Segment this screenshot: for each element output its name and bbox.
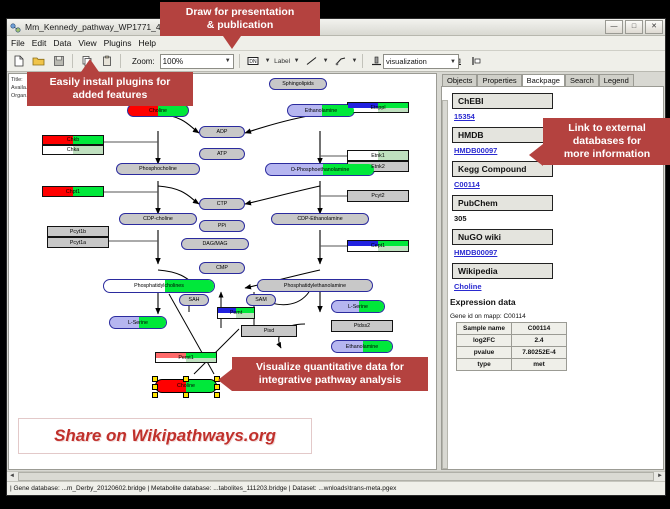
callout-line: Easily install plugins for — [35, 76, 185, 89]
title-bar: Mm_Kennedy_pathway_WP1771_45176.gpml — □… — [7, 19, 665, 36]
menu-item-data[interactable]: Data — [53, 38, 71, 48]
zoom-value: 100% — [163, 57, 183, 66]
backpage-link-kegg[interactable]: C00114 — [454, 180, 663, 189]
node-label: Chka — [67, 147, 79, 153]
node-label: Pcyt1b — [70, 229, 86, 235]
callout-visualize: Visualize quantitative data for integrat… — [232, 357, 428, 391]
backpage-header-hmdb: HMDB — [452, 127, 553, 143]
callout-line: databases for — [551, 135, 663, 148]
callout-arrow-left-icon — [218, 369, 232, 391]
backpage-header-chebi: ChEBI — [452, 93, 553, 109]
close-button[interactable]: ✕ — [645, 20, 663, 34]
node-label: Phosphatidylcholines — [134, 283, 184, 289]
new-file-icon[interactable] — [10, 53, 27, 70]
callout-arrow-down-icon — [223, 36, 241, 49]
toolbar-separator — [120, 54, 121, 68]
chevron-down-icon: ▼ — [450, 59, 456, 65]
menu-item-edit[interactable]: Edit — [32, 38, 47, 48]
menu-item-plugins[interactable]: Plugins — [104, 38, 132, 48]
node-sphingolipids[interactable]: Sphingolipids — [269, 78, 327, 90]
callout-arrow-up-icon — [81, 59, 99, 72]
menu-item-help[interactable]: Help — [139, 38, 156, 48]
pathvisio-icon — [10, 22, 21, 33]
table-row: type met — [457, 359, 567, 371]
callout-arrow-left-icon — [529, 144, 543, 166]
node-l-serine-right[interactable]: L-Serine — [331, 300, 385, 313]
callout-line: integrative pathway analysis — [240, 374, 420, 387]
selection-handle[interactable] — [152, 384, 158, 390]
node-o-phosphoethanolamine[interactable]: O-Phosphoethanolamine — [265, 163, 375, 176]
node-label: Phosphocholine — [139, 166, 177, 172]
horizontal-scrollbar[interactable]: ◄ ► — [7, 471, 665, 481]
node-ctp[interactable]: CTP — [199, 198, 245, 210]
paste-icon[interactable] — [98, 53, 115, 70]
zoom-select[interactable]: 100% ▼ — [160, 54, 234, 69]
expr-value: C00114 — [512, 323, 567, 335]
sidebar-scrollbar[interactable] — [442, 100, 448, 469]
node-label: CDP-Ethanolamine — [297, 216, 342, 222]
node-label: CDP-choline — [143, 216, 173, 222]
node-label: Pemt1 — [178, 355, 193, 361]
backpage-value-pubchem: 305 — [454, 214, 663, 223]
window-controls: — □ ✕ — [605, 20, 663, 34]
gene-pemt[interactable]: Pemt — [217, 307, 255, 319]
minimize-button[interactable]: — — [605, 20, 623, 34]
chevron-down-icon[interactable]: ▼ — [323, 58, 329, 64]
gene-pisd[interactable]: Pisd — [241, 325, 297, 337]
datanode-icon[interactable]: DN — [245, 53, 262, 70]
expr-key: Sample name — [457, 323, 512, 335]
node-cmp[interactable]: CMP — [199, 262, 245, 274]
gene-chpt1[interactable]: Chpt1 — [42, 186, 104, 197]
node-label: Ethanolamine — [305, 108, 337, 114]
node-dag-mag[interactable]: DAG/MAG — [181, 238, 249, 250]
node-label: Etnk1 — [371, 153, 385, 159]
tab-properties[interactable]: Properties — [477, 74, 521, 86]
scroll-thumb[interactable] — [18, 472, 654, 481]
gene-cept1[interactable]: Cept1 — [347, 240, 409, 252]
table-row: pvalue 7.80252E-4 — [457, 347, 567, 359]
sidebar-tabs: Objects Properties Backpage Search Legen… — [438, 73, 664, 86]
visualization-select[interactable]: visualization ▼ — [383, 54, 459, 69]
toolbar-separator — [239, 54, 240, 68]
gene-chkb[interactable]: Chkb — [42, 135, 104, 145]
expression-table: Sample name C00114 log2FC 2.4 pvalue 7.8… — [456, 322, 567, 371]
line-icon[interactable] — [303, 53, 320, 70]
node-label: Phosphatidylethanolamine — [284, 283, 346, 289]
node-label: Choline — [149, 108, 167, 114]
callout-plugins: Easily install plugins for added feature… — [27, 72, 193, 106]
menu-bar: File Edit Data View Plugins Help — [7, 36, 665, 51]
callout-line: added features — [35, 89, 185, 102]
zoom-label: Zoom: — [132, 57, 155, 66]
node-label: Ptdss2 — [354, 323, 370, 329]
callout-link: Link to external databases for more info… — [543, 118, 670, 165]
node-label: Pcyt1a — [70, 240, 86, 246]
backpage-header-pubchem: PubChem — [452, 195, 553, 211]
backpage-link-wikipedia[interactable]: Choline — [454, 282, 663, 291]
status-text: | Gene database: ...m_Derby_20120602.bri… — [10, 485, 396, 492]
visualization-value: visualization — [386, 57, 427, 66]
callout-draw: Draw for presentation & publication — [160, 2, 320, 36]
node-label: Sphingolipids — [282, 81, 314, 87]
node-cdp-choline[interactable]: CDP-choline — [119, 213, 197, 225]
svg-text:DN: DN — [249, 59, 257, 65]
callout-line: Visualize quantitative data for — [240, 361, 420, 374]
gene-etnppl[interactable]: Etnppl — [347, 102, 409, 113]
node-label: PPi — [218, 223, 226, 229]
tab-legend[interactable]: Legend — [599, 74, 634, 86]
node-label: CTP — [217, 201, 228, 207]
node-label: CMP — [216, 265, 228, 271]
node-atp[interactable]: ATP — [199, 148, 245, 160]
node-label: SAH — [189, 297, 200, 303]
interaction-icon[interactable] — [332, 53, 349, 70]
gene-id-label: Gene id on mapp: C00114 — [450, 313, 663, 320]
gene-chka[interactable]: Chka — [42, 145, 104, 155]
node-phosphatidylethanolamine[interactable]: Phosphatidylethanolamine — [257, 279, 373, 292]
tab-objects[interactable]: Objects — [442, 74, 477, 86]
node-sah[interactable]: SAH — [179, 294, 209, 306]
pathway-canvas[interactable]: Title: Availa... Organ... — [8, 73, 437, 470]
node-label: Pemt — [230, 310, 242, 316]
node-label: Cept1 — [371, 243, 385, 249]
node-phosphatidylcholines[interactable]: Phosphatidylcholines — [103, 279, 215, 293]
node-adp[interactable]: ADP — [199, 126, 245, 138]
node-label: Pisd — [264, 328, 274, 334]
backpage-header-nugowiki: NuGO wiki — [452, 229, 553, 245]
node-label: Etnppl — [370, 105, 385, 111]
node-sam[interactable]: SAM — [246, 294, 276, 306]
share-text: Share on Wikipathways.org — [54, 426, 276, 446]
node-ethanolamine-top[interactable]: Ethanolamine — [287, 104, 355, 117]
toolbar: Zoom: 100% ▼ DN ▼ Label ▼ ▼ ▼ — [7, 51, 665, 72]
node-label: SAM — [255, 297, 266, 303]
node-label: ATP — [217, 151, 227, 157]
node-label: ADP — [217, 129, 228, 135]
gene-pemt1[interactable]: Pemt1 — [155, 352, 217, 363]
label-icon[interactable]: Label — [274, 53, 291, 70]
callout-line: Link to external — [551, 122, 663, 135]
selection-handle[interactable] — [214, 392, 220, 398]
node-ppi[interactable]: PPi — [199, 220, 245, 232]
expr-value: 7.80252E-4 — [512, 347, 567, 359]
node-label: Chpt1 — [66, 189, 80, 195]
toolbar-separator — [72, 54, 73, 68]
node-label: DAG/MAG — [202, 241, 227, 247]
node-label: L-Serine — [128, 320, 148, 326]
callout-line: & publication — [168, 19, 312, 32]
chevron-down-icon: ▼ — [225, 58, 231, 64]
gene-pcyt1a[interactable]: Pcyt1a — [47, 237, 109, 248]
chevron-down-icon[interactable]: ▼ — [294, 58, 300, 64]
expr-key: type — [457, 359, 512, 371]
save-icon[interactable] — [50, 53, 67, 70]
callout-line: Draw for presentation — [168, 6, 312, 19]
selection-handle[interactable] — [183, 392, 189, 398]
gene-pcyt1b[interactable]: Pcyt1b — [47, 226, 109, 237]
menu-item-file[interactable]: File — [11, 38, 25, 48]
gene-etnk1[interactable]: Etnk1 — [347, 150, 409, 161]
maximize-button[interactable]: □ — [625, 20, 643, 34]
backpage-link-nugowiki[interactable]: HMDB00097 — [454, 248, 663, 257]
node-phosphocholine[interactable]: Phosphocholine — [116, 163, 200, 175]
expr-value: met — [512, 359, 567, 371]
selection-handle[interactable] — [152, 392, 158, 398]
callout-line: more information — [551, 148, 663, 161]
order-icon[interactable] — [468, 53, 485, 70]
expr-key: log2FC — [457, 335, 512, 347]
status-bar: | Gene database: ...m_Derby_20120602.bri… — [7, 481, 665, 495]
node-label: Choline — [177, 383, 195, 389]
node-label: Etnk2 — [371, 164, 385, 170]
node-label: Ethanolamine — [346, 344, 378, 350]
chevron-down-icon[interactable]: ▼ — [265, 58, 271, 64]
table-row: Sample name C00114 — [457, 323, 567, 335]
gene-ptdss2[interactable]: Ptdss2 — [331, 320, 393, 332]
node-ethanolamine-right[interactable]: Ethanolamine — [331, 340, 393, 353]
tab-search[interactable]: Search — [565, 74, 599, 86]
selection-handle[interactable] — [183, 376, 189, 382]
selection-handle[interactable] — [152, 376, 158, 382]
scroll-right-arrow-icon[interactable]: ► — [655, 473, 665, 481]
menu-item-view[interactable]: View — [78, 38, 96, 48]
callout-share: Share on Wikipathways.org — [18, 418, 312, 454]
node-label: O-Phosphoethanolamine — [291, 167, 350, 173]
backpage-header-wikipedia: Wikipedia — [452, 263, 553, 279]
node-label: Pcyt2 — [371, 193, 384, 199]
node-l-serine-left[interactable]: L-Serine — [109, 316, 167, 329]
open-folder-icon[interactable] — [30, 53, 47, 70]
table-row: log2FC 2.4 — [457, 335, 567, 347]
node-label: Chkb — [67, 137, 79, 143]
gene-pcyt2[interactable]: Pcyt2 — [347, 190, 409, 202]
expr-key: pvalue — [457, 347, 512, 359]
expression-data-title: Expression data — [450, 297, 663, 307]
node-label: L-Serine — [348, 304, 368, 310]
chevron-down-icon[interactable]: ▼ — [352, 58, 358, 64]
scroll-left-arrow-icon[interactable]: ◄ — [7, 473, 17, 481]
expr-value: 2.4 — [512, 335, 567, 347]
toolbar-separator — [362, 54, 363, 68]
node-cdp-ethanolamine[interactable]: CDP-Ethanolamine — [271, 213, 369, 225]
